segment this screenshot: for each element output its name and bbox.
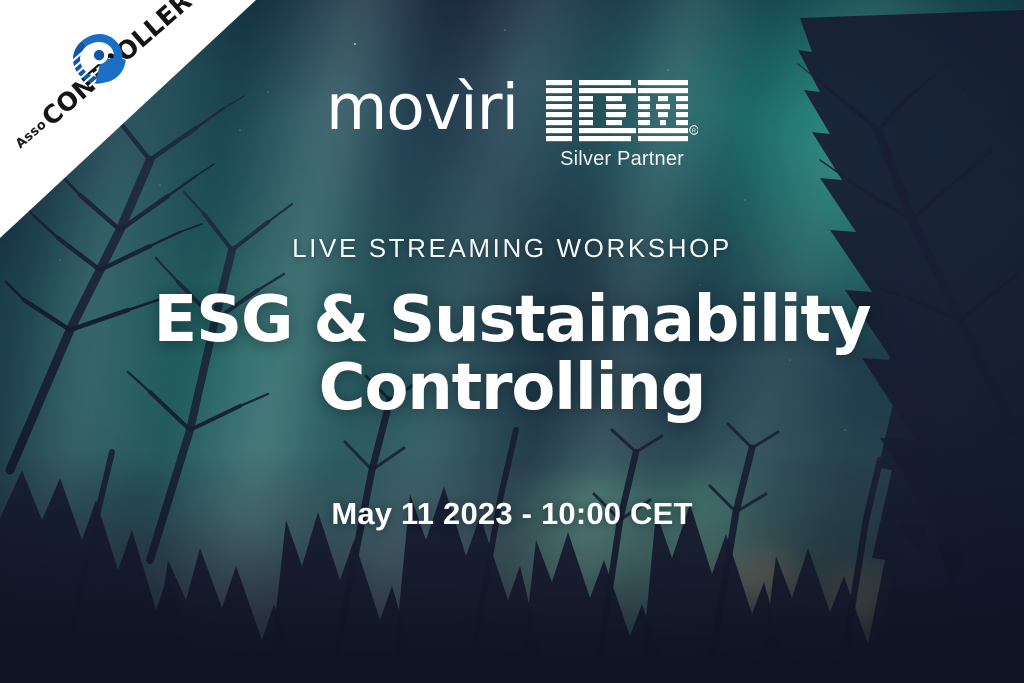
moviri-logo: movìri — [326, 78, 518, 138]
page-title: ESG & Sustainability Controlling — [154, 286, 871, 423]
event-datetime: May 11 2023 - 10:00 CET — [331, 496, 692, 532]
event-banner: Asso CONTROLLER — [0, 0, 1024, 683]
banner-content: movìri — [0, 0, 1024, 683]
title-line-1: ESG & Sustainability — [154, 283, 871, 357]
svg-text:R: R — [692, 129, 696, 135]
ibm-logo: R — [546, 80, 698, 142]
title-line-2: Controlling — [154, 354, 871, 422]
ibm-partner-block: R Silver Partner — [546, 80, 698, 171]
ibm-partner-tier: Silver Partner — [560, 148, 684, 171]
logo-row: movìri — [326, 76, 698, 171]
event-kicker: LIVE STREAMING WORKSHOP — [292, 233, 732, 264]
